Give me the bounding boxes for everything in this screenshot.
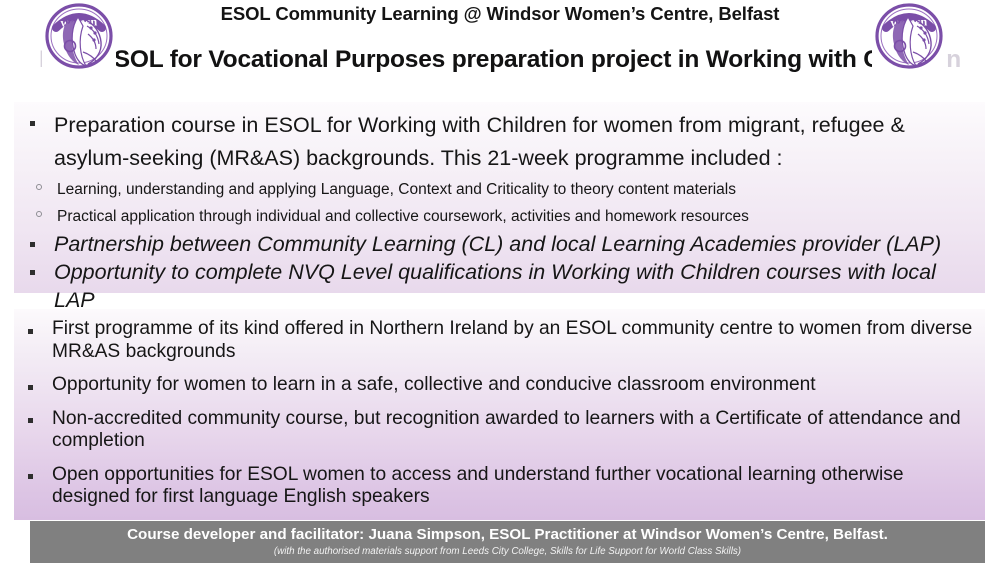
header-subtitle: ESOL Community Learning @ Windsor Women’…: [0, 3, 1000, 25]
slide-root: ESOL Community Learning @ Windsor Women’…: [0, 0, 1000, 563]
bullet-item: Opportunity for women to learn in a safe…: [22, 374, 975, 397]
bullet-item: Preparation course in ESOL for Working w…: [24, 109, 975, 175]
womens-centre-logo-icon: women: [42, 2, 116, 70]
content-box-two: First programme of its kind offered in N…: [14, 309, 985, 520]
bullet-item: Open opportunities for ESOL women to acc…: [22, 464, 975, 509]
box-one-sub-bullet-list: Learning, understanding and applying Lan…: [24, 176, 975, 230]
footer-main-text: Course developer and facilitator: Juana …: [30, 525, 985, 544]
womens-centre-logo-icon: women: [872, 2, 946, 70]
footer-sub-text: (with the authorised materials support f…: [30, 545, 985, 558]
slide-header: ESOL Community Learning @ Windsor Women’…: [0, 0, 1000, 96]
bullet-item: Opportunity to complete NVQ Level qualif…: [24, 258, 975, 314]
logo-right: women: [872, 2, 946, 70]
logo-left: women: [42, 2, 116, 70]
bullet-item: First programme of its kind offered in N…: [22, 318, 975, 363]
sub-bullet-item: Learning, understanding and applying Lan…: [24, 176, 975, 203]
bullet-item: Partnership between Community Learning (…: [24, 230, 975, 258]
box-one-bullet-list: Preparation course in ESOL for Working w…: [24, 109, 975, 175]
slide-title: Pilot ESOL for Vocational Purposes prepa…: [0, 46, 1000, 74]
slide-title-visible: SOL for Vocational Purposes preparation …: [114, 46, 902, 73]
box-one-italic-bullet-list: Partnership between Community Learning (…: [24, 230, 975, 314]
footer-credit-bar: Course developer and facilitator: Juana …: [30, 521, 985, 563]
bullet-item: Non-accredited community course, but rec…: [22, 408, 975, 453]
content-box-one: Preparation course in ESOL for Working w…: [14, 102, 985, 293]
sub-bullet-item: Practical application through individual…: [24, 203, 975, 230]
box-two-bullet-list: First programme of its kind offered in N…: [22, 318, 975, 509]
